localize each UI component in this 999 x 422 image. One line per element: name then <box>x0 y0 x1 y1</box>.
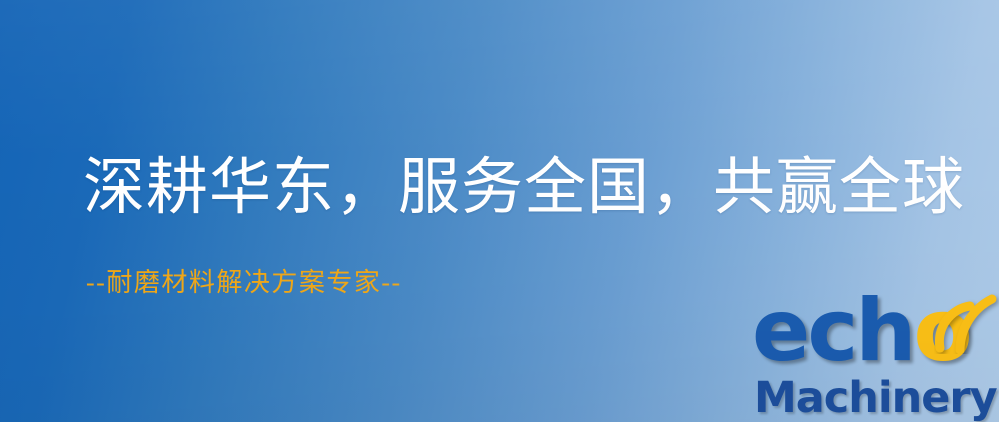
logo-tagline: Machinery® <box>754 372 999 420</box>
banner-headline: 深耕华东，服务全国，共赢全球 <box>83 152 965 224</box>
logo-tagline-text: Machinery <box>754 373 997 422</box>
company-logo: echo Machinery® <box>752 292 999 422</box>
logo-wordmark-primary: ech <box>752 281 914 381</box>
banner-subtitle: --耐磨材料解决方案专家-- <box>86 268 402 298</box>
promo-banner: 深耕华东，服务全国，共赢全球 --耐磨材料解决方案专家-- echo Machi… <box>0 0 999 422</box>
signal-waves-icon <box>934 292 999 354</box>
